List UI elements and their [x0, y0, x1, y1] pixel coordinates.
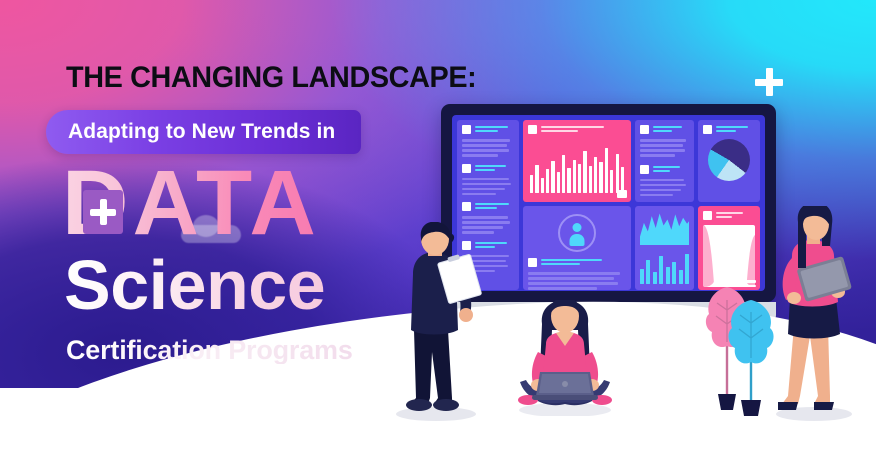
bar — [679, 270, 683, 284]
panel-header — [703, 125, 755, 134]
panel-badge — [617, 190, 627, 198]
bar — [666, 267, 670, 284]
bar — [594, 157, 597, 193]
bar-chart — [528, 139, 626, 193]
bar — [659, 256, 663, 284]
bar — [583, 151, 586, 193]
standing-woman-with-tablet — [762, 206, 866, 422]
desktop-monitor — [441, 104, 776, 302]
panel-header — [640, 125, 689, 134]
word-science: Science — [64, 250, 325, 320]
seated-woman-with-laptop — [506, 300, 624, 416]
mini-bar-chart — [640, 250, 689, 284]
panel-icon — [528, 125, 537, 134]
bar — [589, 166, 592, 193]
bar — [530, 175, 533, 193]
dashboard-distribution-panel[interactable] — [698, 206, 760, 290]
panel-icon — [640, 165, 649, 174]
hero-banner: THE CHANGING LANDSCAPE: Adapting to New … — [0, 0, 876, 454]
bar — [541, 178, 544, 193]
area-chart — [640, 211, 689, 245]
bar — [646, 260, 650, 284]
distribution-chart — [703, 225, 755, 287]
bar — [567, 168, 570, 193]
word-certification-programs: Certification Programs — [66, 337, 353, 364]
kicker-text: THE CHANGING LANDSCAPE: — [66, 61, 476, 95]
panel-header — [703, 211, 755, 220]
panel-icon — [703, 125, 712, 134]
panel-header — [528, 258, 626, 267]
panel-icon — [528, 258, 537, 267]
plus-icon — [752, 65, 786, 99]
headline-block: THE CHANGING LANDSCAPE: Adapting to New … — [0, 0, 470, 454]
bar — [578, 164, 581, 193]
panel-header — [528, 125, 626, 134]
bar — [605, 148, 608, 193]
dashboard-text-panel[interactable] — [635, 120, 694, 202]
bar — [616, 154, 619, 193]
bar — [653, 272, 657, 284]
bar — [562, 155, 565, 193]
panel-icon — [640, 125, 649, 134]
subtitle-badge-label: Adapting to New Trends in — [68, 120, 335, 144]
bar — [546, 169, 549, 193]
bar — [685, 254, 689, 284]
pie-chart — [708, 139, 750, 181]
bar — [557, 172, 560, 193]
plus-icon — [83, 190, 123, 234]
user-avatar-icon — [558, 214, 596, 252]
bar — [599, 162, 602, 193]
bar — [672, 262, 676, 284]
dashboard-pie-chart-panel[interactable] — [698, 120, 760, 202]
panel-icon — [703, 211, 712, 220]
dashboard-user-panel[interactable] — [523, 206, 631, 290]
bar — [551, 161, 554, 193]
dashboard-screen — [452, 115, 765, 291]
dashboard-mixed-chart-panel[interactable] — [635, 206, 694, 290]
subtitle-badge: Adapting to New Trends in — [46, 110, 361, 154]
bar — [610, 170, 613, 193]
dashboard-bar-chart-panel[interactable] — [523, 120, 631, 202]
bar — [535, 165, 538, 193]
bar — [640, 269, 644, 284]
bar — [573, 160, 576, 193]
